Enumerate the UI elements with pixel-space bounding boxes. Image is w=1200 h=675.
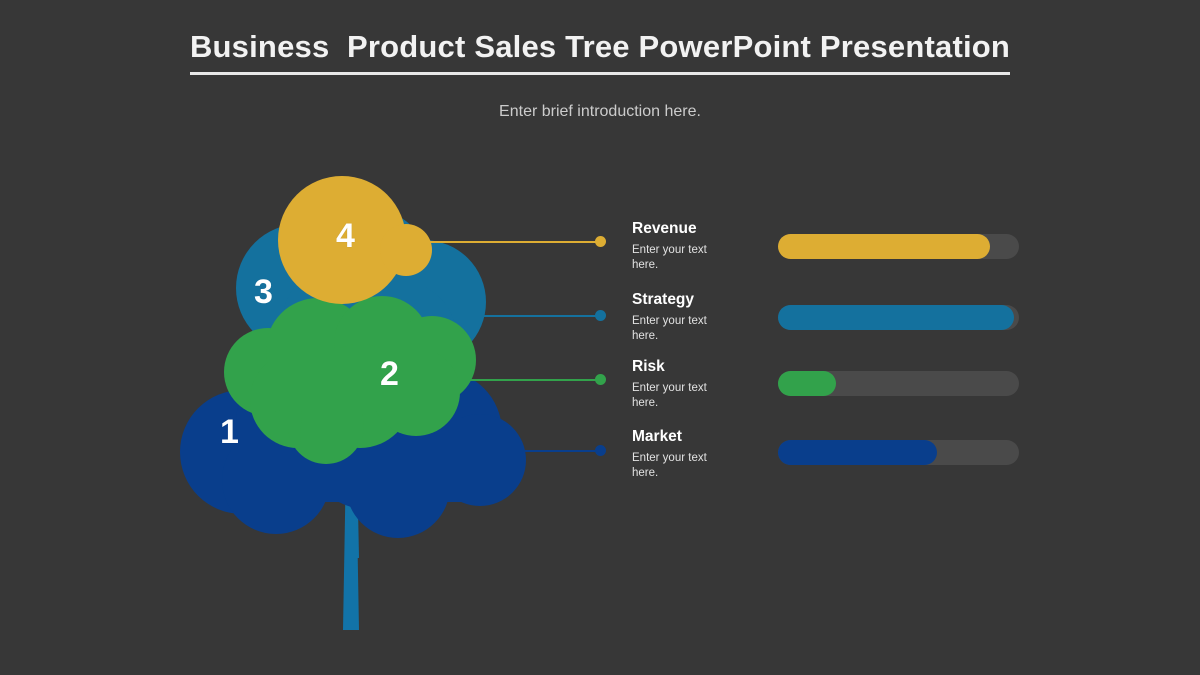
connector-dot-risk[interactable] (595, 374, 606, 385)
progress-track-revenue[interactable] (778, 234, 1019, 259)
progress-fill-market (778, 440, 937, 465)
progress-fill-revenue (778, 234, 990, 259)
progress-track-risk[interactable] (778, 371, 1019, 396)
legend-item-revenue[interactable]: Revenue Enter your text here. (632, 220, 772, 273)
connector-line-market (520, 450, 600, 452)
connector-line-strategy (464, 315, 600, 317)
connector-line-revenue (418, 241, 600, 243)
page-title: Business Product Sales Tree PowerPoint P… (190, 30, 1010, 75)
progress-fill-strategy (778, 305, 1014, 330)
connector-dot-revenue[interactable] (595, 236, 606, 247)
legend-item-market[interactable]: Market Enter your text here. (632, 428, 772, 481)
sales-tree-diagram: 4 3 2 1 (150, 160, 570, 650)
connector-dot-market[interactable] (595, 445, 606, 456)
presentation-slide: Business Product Sales Tree PowerPoint P… (0, 0, 1200, 675)
legend-item-strategy[interactable]: Strategy Enter your text here. (632, 291, 772, 344)
progress-track-market[interactable] (778, 440, 1019, 465)
legend-title-revenue: Revenue (632, 220, 772, 239)
tree-svg (150, 160, 570, 650)
legend-title-risk: Risk (632, 358, 772, 377)
legend-item-risk[interactable]: Risk Enter your text here. (632, 358, 772, 411)
progress-track-strategy[interactable] (778, 305, 1019, 330)
legend-desc-revenue: Enter your text here. (632, 243, 724, 273)
title-block: Business Product Sales Tree PowerPoint P… (0, 30, 1200, 75)
progress-fill-risk (778, 371, 836, 396)
legend-desc-strategy: Enter your text here. (632, 314, 724, 344)
legend-desc-risk: Enter your text here. (632, 381, 724, 411)
connector-dot-strategy[interactable] (595, 310, 606, 321)
slide-subtitle: Enter brief introduction here. (0, 103, 1200, 121)
connector-line-risk (452, 379, 600, 381)
legend-title-market: Market (632, 428, 772, 447)
legend-title-strategy: Strategy (632, 291, 772, 310)
legend-desc-market: Enter your text here. (632, 451, 724, 481)
